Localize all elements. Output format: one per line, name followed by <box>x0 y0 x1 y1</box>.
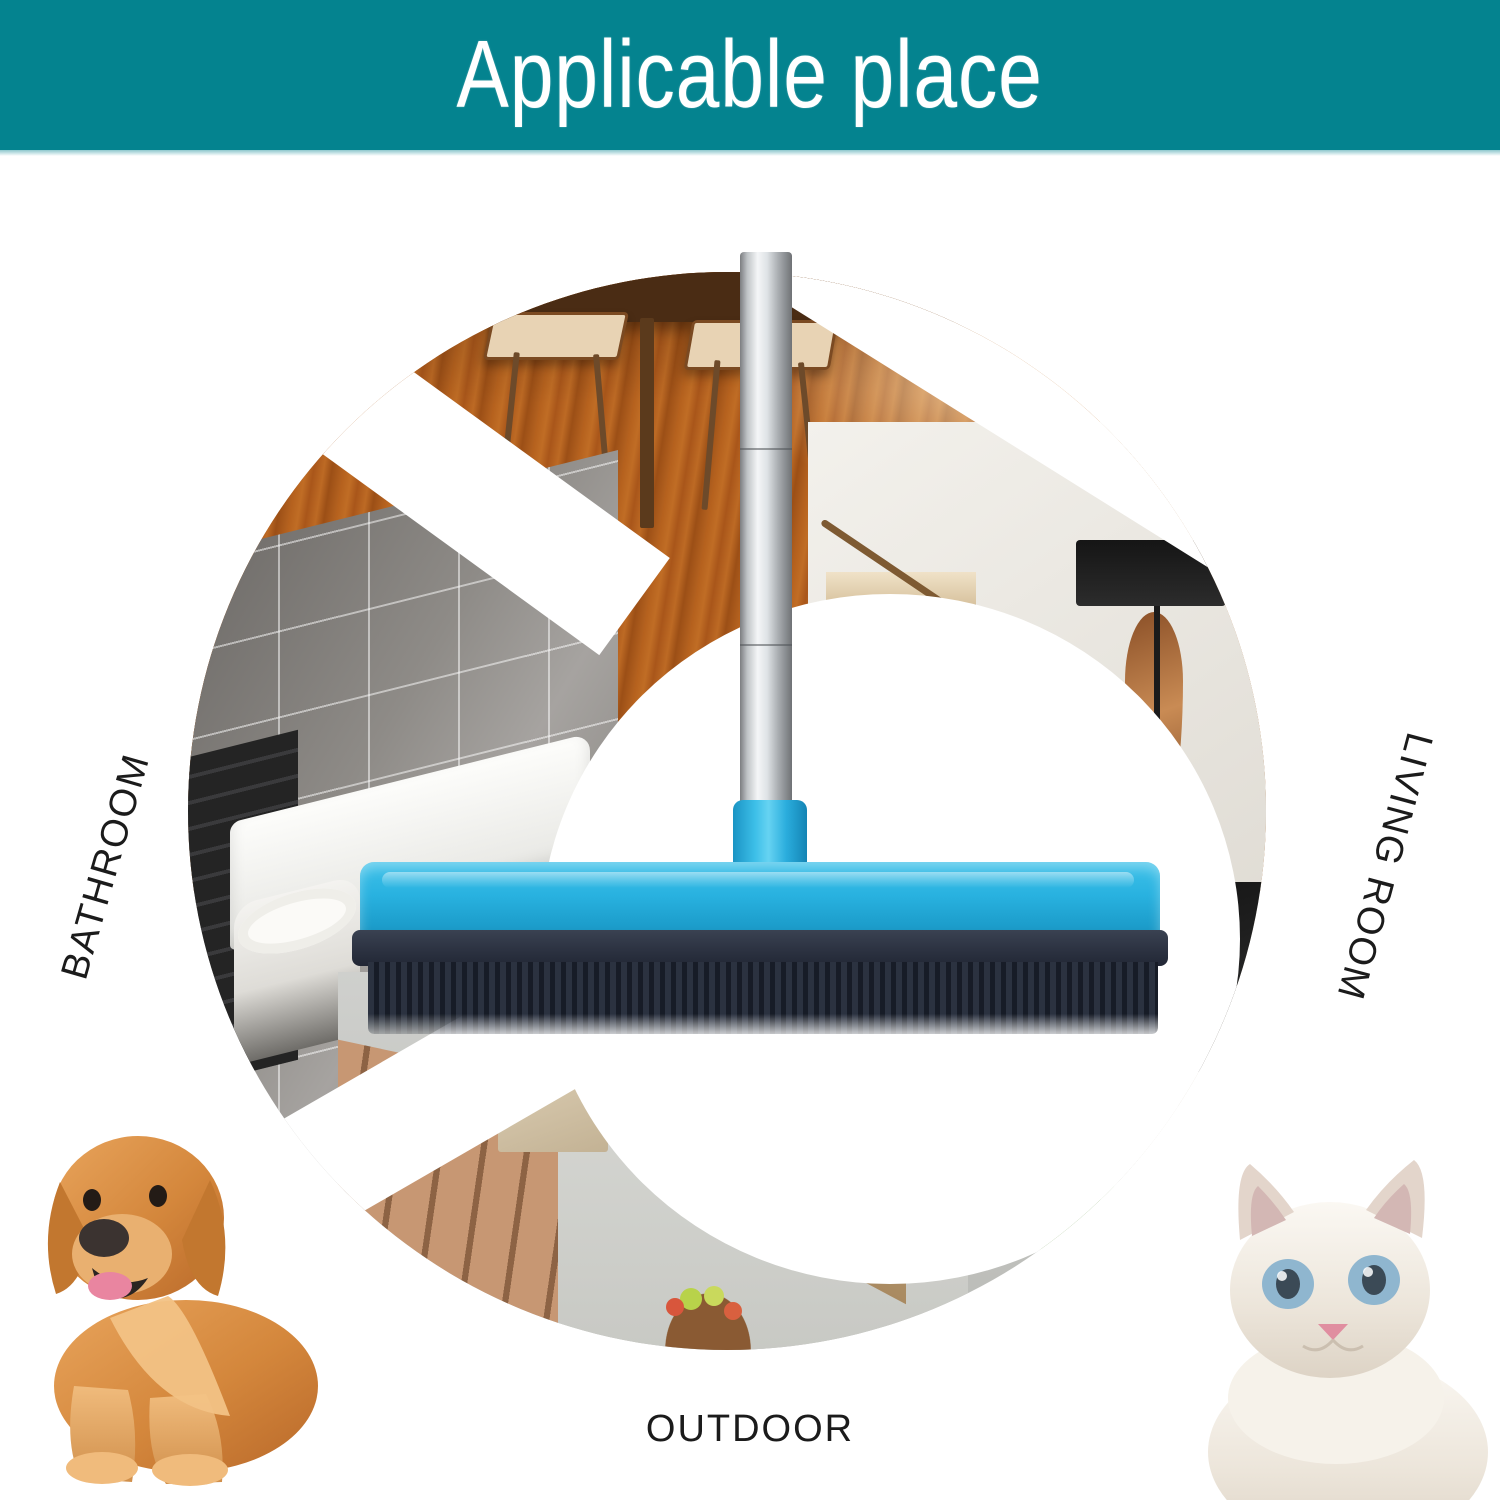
label-bathroom: BATHROOM <box>54 749 159 985</box>
page-title: Applicable place <box>457 27 1043 123</box>
fruit-grape-2 <box>704 1286 724 1306</box>
scene-collage-circle <box>188 272 1266 1350</box>
dog-photo-golden-retriever <box>18 1086 338 1486</box>
inner-white-disc <box>540 594 1240 1284</box>
chair-seat-left <box>483 312 629 360</box>
fruit-apple <box>666 1298 684 1316</box>
table-pedestal <box>640 318 654 528</box>
header-banner: Applicable place <box>0 0 1500 150</box>
fruit-apple-2 <box>724 1302 742 1320</box>
cat-photo-ragdoll <box>1178 1148 1500 1500</box>
label-living-room: LIVING ROOM <box>1327 728 1440 1005</box>
chair-seat-right <box>684 320 839 370</box>
banner-shadow <box>0 150 1500 156</box>
fruit-basket <box>658 1284 758 1350</box>
